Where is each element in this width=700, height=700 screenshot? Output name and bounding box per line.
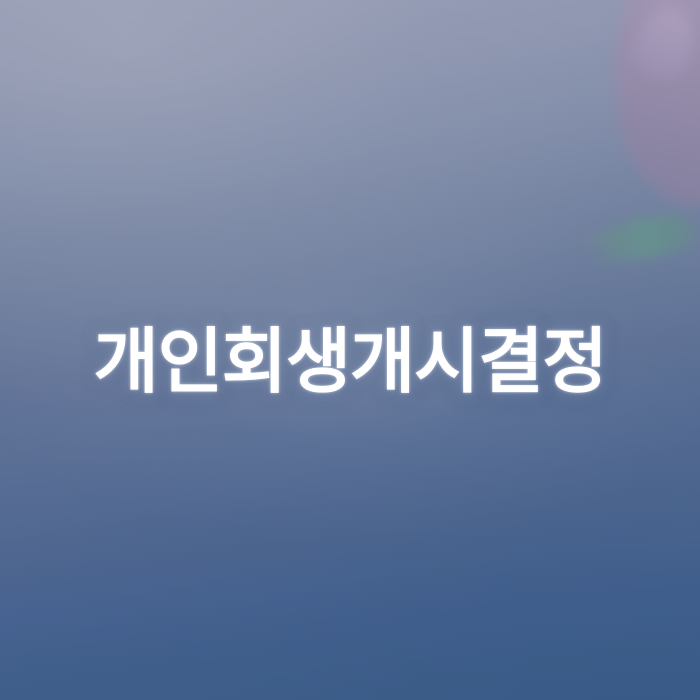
headline-container: 개인회생개시결정 (0, 318, 700, 408)
page-title: 개인회생개시결정 (94, 318, 607, 408)
image-canvas: 개인회생개시결정 (0, 0, 700, 700)
